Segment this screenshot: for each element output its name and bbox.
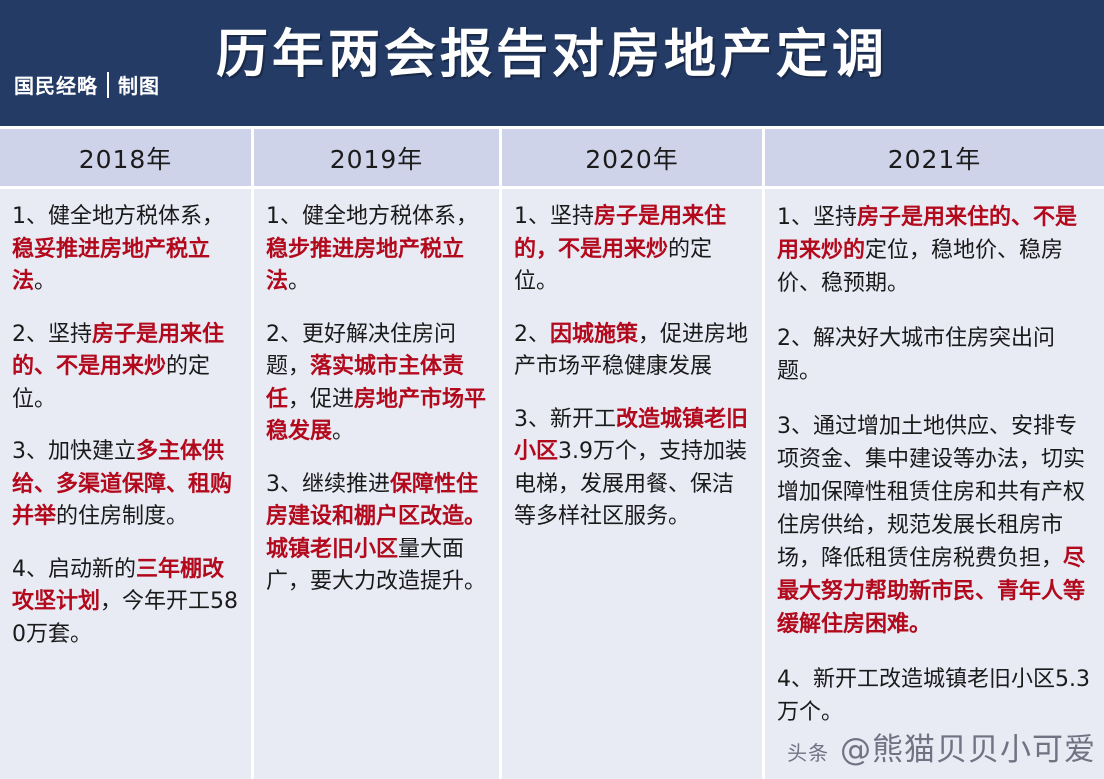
body-text: 1、坚持: [777, 205, 857, 230]
column-header-label: 2020年: [585, 140, 679, 176]
page-title: 历年两会报告对房地产定调: [0, 26, 1104, 86]
highlighted-text: 因城施策: [550, 322, 638, 347]
body-text: 4、新开工改造城镇老旧小区5.3万个。: [777, 667, 1090, 725]
policy-item: 2、解决好大城市住房突出问题。: [777, 322, 1092, 388]
policy-item: 4、启动新的三年棚改攻坚计划，今年开工580万套。: [12, 554, 239, 652]
column-header-2018: 2018年: [0, 129, 251, 186]
policy-item: 1、坚持房子是用来住的、不是用来炒的定位，稳地价、稳房价、稳预期。: [777, 201, 1092, 300]
header-banner: 国民经略 制图 历年两会报告对房地产定调: [0, 0, 1104, 126]
body-text: 2、坚持: [12, 322, 92, 347]
comparison-table: 2018年 2019年 2020年 2021年 1、健全地方税体系，稳妥推进房地…: [0, 126, 1104, 779]
body-text: 1、坚持: [514, 204, 594, 229]
table-cell-2021: 1、坚持房子是用来住的、不是用来炒的定位，稳地价、稳房价、稳预期。2、解决好大城…: [765, 189, 1104, 779]
column-header-2020: 2020年: [502, 129, 762, 186]
policy-item: 4、新开工改造城镇老旧小区5.3万个。: [777, 663, 1092, 729]
policy-item: 3、加快建立多主体供给、多渠道保障、租购并举的住房制度。: [12, 436, 239, 534]
policy-item: 2、坚持房子是用来住的、不是用来炒的定位。: [12, 319, 239, 417]
column-header-label: 2021年: [888, 140, 982, 176]
policy-item: 2、因城施策，促进房地产市场平稳健康发展: [514, 319, 750, 384]
column-header-label: 2018年: [79, 140, 173, 176]
watermark-platform: 头条: [787, 741, 829, 765]
watermark: 头条 @熊猫贝贝小可爱: [787, 724, 1096, 769]
column-header-2019: 2019年: [254, 129, 499, 186]
body-text: 1、健全地方税体系，: [12, 204, 224, 229]
table-body-row: 1、健全地方税体系，稳妥推进房地产税立法。2、坚持房子是用来住的、不是用来炒的定…: [0, 186, 1104, 779]
body-text: 3、加快建立: [12, 439, 136, 464]
policy-item: 2、更好解决住房问题，落实城市主体责任，促进房地产市场平稳发展。: [266, 319, 487, 449]
body-text: 3、新开工: [514, 407, 616, 432]
table-cell-2020: 1、坚持房子是用来住的，不是用来炒的定位。2、因城施策，促进房地产市场平稳健康发…: [502, 189, 762, 779]
policy-item: 1、健全地方税体系，稳妥推进房地产税立法。: [12, 201, 239, 299]
policy-item: 1、健全地方税体系，稳步推进房地产税立法。: [266, 201, 487, 299]
column-header-label: 2019年: [330, 140, 424, 176]
body-text: 3、通过增加土地供应、安排专项资金、集中建设等办法，切实增加保障性租赁住房和共有…: [777, 414, 1085, 571]
table-cell-2018: 1、健全地方税体系，稳妥推进房地产税立法。2、坚持房子是用来住的、不是用来炒的定…: [0, 189, 251, 779]
policy-item: 3、通过增加土地供应、安排专项资金、集中建设等办法，切实增加保障性租赁住房和共有…: [777, 410, 1092, 641]
table-header-row: 2018年 2019年 2020年 2021年: [0, 126, 1104, 186]
body-text: 1、健全地方税体系，: [266, 204, 478, 229]
body-text: 3、继续推进: [266, 472, 390, 497]
body-text: ，促进: [288, 387, 354, 412]
infographic-root: 国民经略 制图 历年两会报告对房地产定调 2018年 2019年 2020年 2…: [0, 0, 1104, 779]
body-text: 。: [288, 269, 310, 294]
body-text: 2、: [514, 322, 550, 347]
body-text: 2、解决好大城市住房突出问题。: [777, 326, 1055, 384]
body-text: 。: [332, 419, 354, 444]
policy-item: 3、新开工改造城镇老旧小区3.9万个，支持加装电梯，发展用餐、保洁等多样社区服务…: [514, 404, 750, 534]
column-header-2021: 2021年: [765, 129, 1104, 186]
policy-item: 3、继续推进保障性住房建设和棚户区改造。城镇老旧小区量大面广，要大力改造提升。: [266, 469, 487, 599]
policy-item: 1、坚持房子是用来住的，不是用来炒的定位。: [514, 201, 750, 299]
table-cell-2019: 1、健全地方税体系，稳步推进房地产税立法。2、更好解决住房问题，落实城市主体责任…: [254, 189, 499, 779]
body-text: 。: [34, 269, 56, 294]
body-text: 4、启动新的: [12, 557, 136, 582]
watermark-handle: @熊猫贝贝小可爱: [840, 732, 1096, 768]
body-text: 的住房制度。: [56, 504, 188, 529]
